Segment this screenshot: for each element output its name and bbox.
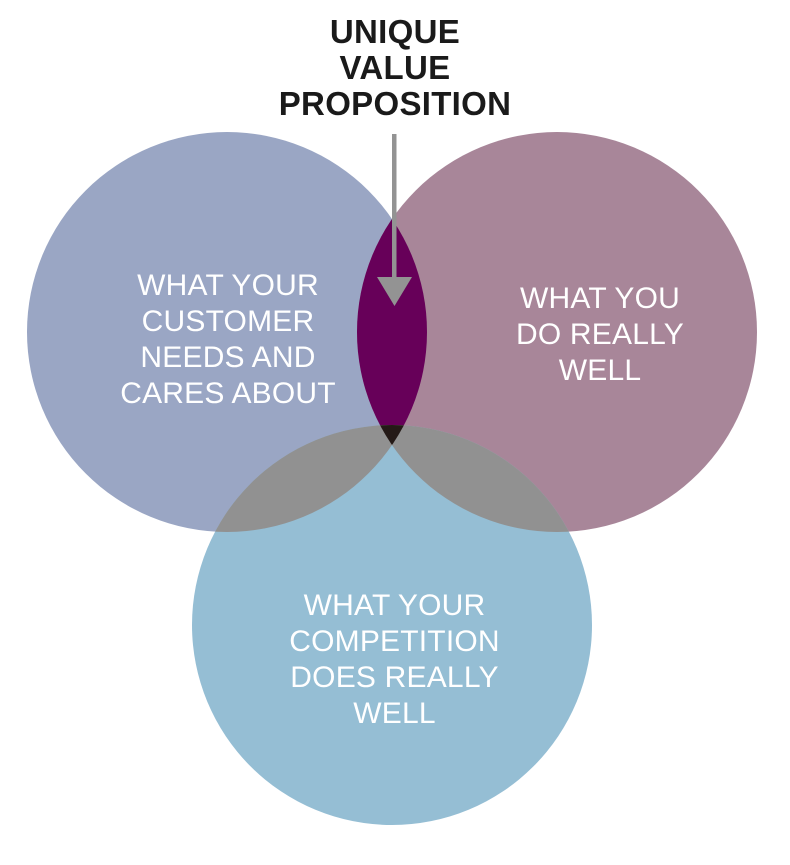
- venn-canvas: [0, 0, 790, 865]
- arrow-shaft: [392, 134, 397, 282]
- venn-diagram: UNIQUE VALUE PROPOSITION WHAT YOUR CUSTO…: [0, 0, 790, 865]
